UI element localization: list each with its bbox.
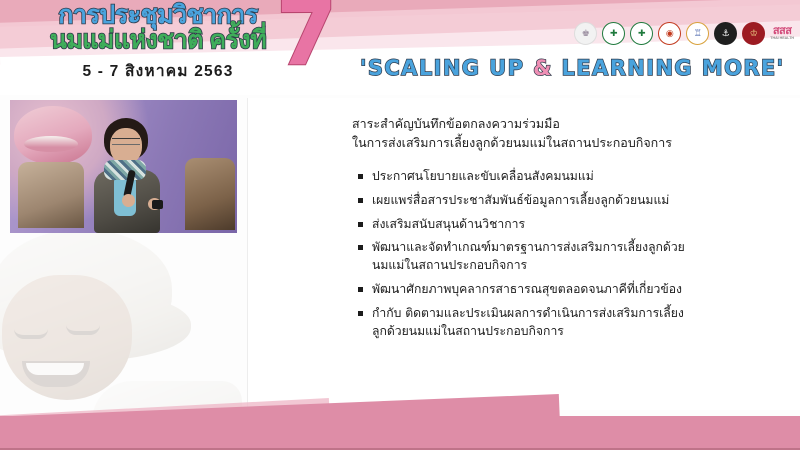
bullet-square-icon bbox=[358, 198, 363, 203]
ministry-health-logo-1: ✚ bbox=[602, 22, 625, 45]
conference-title-line1: การประชุมวิชาการ bbox=[18, 2, 298, 28]
bullet-text: พัฒนาศักยภาพบุคลากรสาธารณสุขตลอดจนภาคีที… bbox=[372, 281, 688, 299]
child-eye-right bbox=[66, 325, 100, 335]
child-teeth bbox=[26, 363, 84, 375]
speaker-face bbox=[110, 128, 142, 164]
list-item: พัฒนาและจัดทำเกณฑ์มาตรฐานการส่งเสริมการเ… bbox=[358, 239, 688, 275]
list-item: ประกาศนโยบายและขับเคลื่อนสังคมนมแม่ bbox=[358, 168, 778, 186]
presentation-screenshot: การประชุมวิชาการ นมแม่แห่งชาติ ครั้งที่ … bbox=[0, 0, 800, 450]
slide-bullet-list: ประกาศนโยบายและขับเคลื่อนสังคมนมแม่ เผยแ… bbox=[358, 168, 778, 347]
bullet-square-icon bbox=[358, 245, 363, 250]
slide-heading-line2: ในการส่งเสริมการเลี้ยงลูกด้วยนมแม่ในสถาน… bbox=[352, 133, 772, 152]
child-eye-left bbox=[14, 329, 48, 339]
speaker-video-panel[interactable] bbox=[10, 100, 237, 233]
bullet-text: ส่งเสริมสนับสนุนด้านวิชาการ bbox=[372, 216, 778, 234]
glasses-icon bbox=[112, 138, 140, 145]
conference-title-block: การประชุมวิชาการ นมแม่แห่งชาติ ครั้งที่ … bbox=[18, 2, 298, 83]
bullet-square-icon bbox=[358, 287, 363, 292]
list-item: ส่งเสริมสนับสนุนด้านวิชาการ bbox=[358, 216, 778, 234]
list-item: พัฒนาศักยภาพบุคลากรสาธารณสุขตลอดจนภาคีที… bbox=[358, 281, 688, 299]
ministry-health-logo-2: ✚ bbox=[630, 22, 653, 45]
speaker-figure bbox=[92, 118, 164, 233]
conference-title-line2: นมแม่แห่งชาติ ครั้งที่ bbox=[18, 27, 298, 54]
bullet-square-icon bbox=[358, 174, 363, 179]
black-circle-emblem-logo: ⚓ bbox=[714, 22, 737, 45]
red-crest-logo: ♔ bbox=[742, 22, 765, 45]
bottom-pink-band bbox=[0, 416, 800, 450]
conference-date: 5 - 7 สิงหาคม 2563 bbox=[18, 58, 298, 83]
sponsor-logo-row: ♚ ✚ ✚ ◉ ♖ ⚓ ♔ สสสTHAI HEALTH bbox=[574, 22, 794, 45]
bullet-text: เผยแพร่สื่อสารประชาสัมพันธ์ข้อมูลการเลี้… bbox=[372, 192, 778, 210]
tagline-part1: 'SCALING UP bbox=[360, 56, 533, 80]
bullet-square-icon bbox=[358, 311, 363, 316]
slide-heading-line1: สาระสำคัญบันทึกข้อตกลงความร่วมมือ bbox=[352, 114, 772, 133]
list-item: เผยแพร่สื่อสารประชาสัมพันธ์ข้อมูลการเลี้… bbox=[358, 192, 778, 210]
smiling-child-watermark bbox=[0, 233, 246, 433]
backdrop-lips-graphic bbox=[14, 106, 92, 164]
speaker-hand-left bbox=[122, 194, 135, 207]
list-item: กำกับ ติดตามและประเมินผลการดำเนินการส่งเ… bbox=[358, 305, 688, 341]
chair-left bbox=[18, 162, 84, 228]
edition-number: 7 bbox=[276, 0, 337, 78]
bullet-text: กำกับ ติดตามและประเมินผลการดำเนินการส่งเ… bbox=[372, 305, 688, 341]
chair-right bbox=[185, 158, 235, 230]
thai-health-wheel-logo: ◉ bbox=[658, 22, 681, 45]
tagline-ampersand: & bbox=[533, 56, 553, 80]
slide-heading: สาระสำคัญบันทึกข้อตกลงความร่วมมือ ในการส… bbox=[352, 114, 772, 153]
conference-banner: การประชุมวิชาการ นมแม่แห่งชาติ ครั้งที่ … bbox=[0, 0, 800, 95]
bullet-text: พัฒนาและจัดทำเกณฑ์มาตรฐานการส่งเสริมการเ… bbox=[372, 239, 688, 275]
speaker-scarf bbox=[104, 160, 146, 180]
thaihealth-logo-sub: THAI HEALTH bbox=[770, 37, 794, 41]
university-crest-logo: ♖ bbox=[686, 22, 709, 45]
thaihealth-logo: สสสTHAI HEALTH bbox=[770, 26, 794, 41]
bullet-text: ประกาศนโยบายและขับเคลื่อนสังคมนมแม่ bbox=[372, 168, 778, 186]
conference-tagline: 'SCALING UP & LEARNING MORE' bbox=[360, 56, 784, 80]
tagline-part2: LEARNING MORE' bbox=[553, 56, 785, 80]
slide-content-panel: สาระสำคัญบันทึกข้อตกลงความร่วมมือ ในการส… bbox=[247, 98, 800, 410]
presenter-remote-icon bbox=[152, 200, 163, 209]
bullet-square-icon bbox=[358, 222, 363, 227]
royal-emblem-logo: ♚ bbox=[574, 22, 597, 45]
